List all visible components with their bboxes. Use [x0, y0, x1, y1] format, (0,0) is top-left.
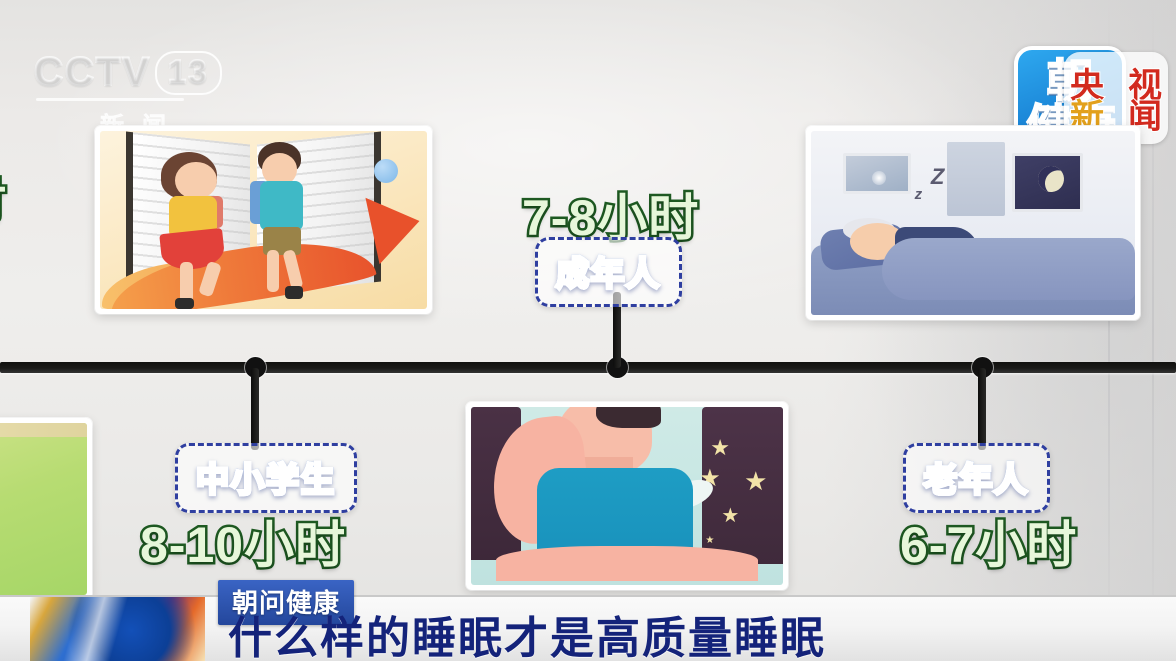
- offscreen-illustration-card: [0, 418, 92, 600]
- headline-text: 什么样的睡眠才是高质量睡眠: [228, 602, 826, 661]
- adult-illustration-card: ★ ★ ★ ★ ★: [466, 402, 788, 590]
- blue-ball-decoration: [374, 159, 398, 183]
- elderly-illustration-card: Z z: [806, 126, 1140, 320]
- student-girl: [152, 152, 257, 309]
- sleep-z-small: z: [915, 186, 923, 203]
- elderly-illustration: Z z: [811, 131, 1135, 315]
- wall-panel: [947, 142, 1005, 216]
- lower-third: 朝问健康 什么样的睡眠才是高质量睡眠: [0, 595, 1176, 661]
- elderly-group-label: 老年人: [924, 453, 1029, 501]
- cctv-wordmark: CCTV 13: [34, 50, 234, 95]
- adult-illustration: ★ ★ ★ ★ ★: [471, 407, 783, 585]
- students-hours-label: 8-10小时: [140, 505, 346, 577]
- star-icon: ★: [705, 535, 714, 546]
- adult-foreground-arm: [496, 546, 758, 582]
- cctv-underline: [36, 98, 184, 101]
- star-icon: ★: [710, 435, 730, 461]
- cut-top-band: [0, 423, 87, 437]
- girl-leg: [180, 262, 194, 303]
- girl-head: [175, 162, 217, 200]
- girl-shoe: [175, 298, 194, 309]
- cctv-letters: CCTV: [34, 50, 151, 95]
- students-illustration-card: [95, 126, 432, 314]
- timeline-stem-elderly: [978, 368, 986, 450]
- cctv-channel-number: 13: [155, 51, 222, 95]
- students-group-tag: 中小学生: [175, 443, 357, 513]
- boy-shoe: [285, 286, 303, 299]
- boy-leg: [267, 250, 279, 293]
- student-boy: [244, 142, 342, 306]
- star-icon: ★: [721, 503, 739, 528]
- students-group-label: 中小学生: [196, 453, 336, 501]
- globe-swoosh: [30, 597, 205, 661]
- news-globe-graphic: [30, 597, 205, 661]
- elderly-hours-label: 6-7小时: [900, 505, 1077, 577]
- wall-picture-frame: [843, 153, 911, 193]
- elderly-group-tag: 老年人: [903, 443, 1050, 513]
- broadcast-frame: CCTV 13 新闻 朝 健康 央 视 新 闻 时: [0, 0, 1176, 661]
- adults-group-label: 成年人: [556, 247, 661, 295]
- offscreen-illustration: [0, 423, 87, 595]
- adults-group-tag: 成年人: [535, 237, 682, 307]
- boy-leg: [282, 249, 303, 290]
- offscreen-hours-label: 时: [0, 165, 7, 231]
- sleep-z-large: Z: [931, 164, 944, 190]
- blanket: [882, 238, 1135, 301]
- adult-hair: [596, 407, 662, 428]
- students-illustration: [100, 131, 427, 309]
- star-icon: ★: [744, 466, 767, 497]
- timeline-axis: [0, 362, 1176, 373]
- boy-shirt: [260, 181, 303, 230]
- timeline-stem-students: [251, 368, 259, 450]
